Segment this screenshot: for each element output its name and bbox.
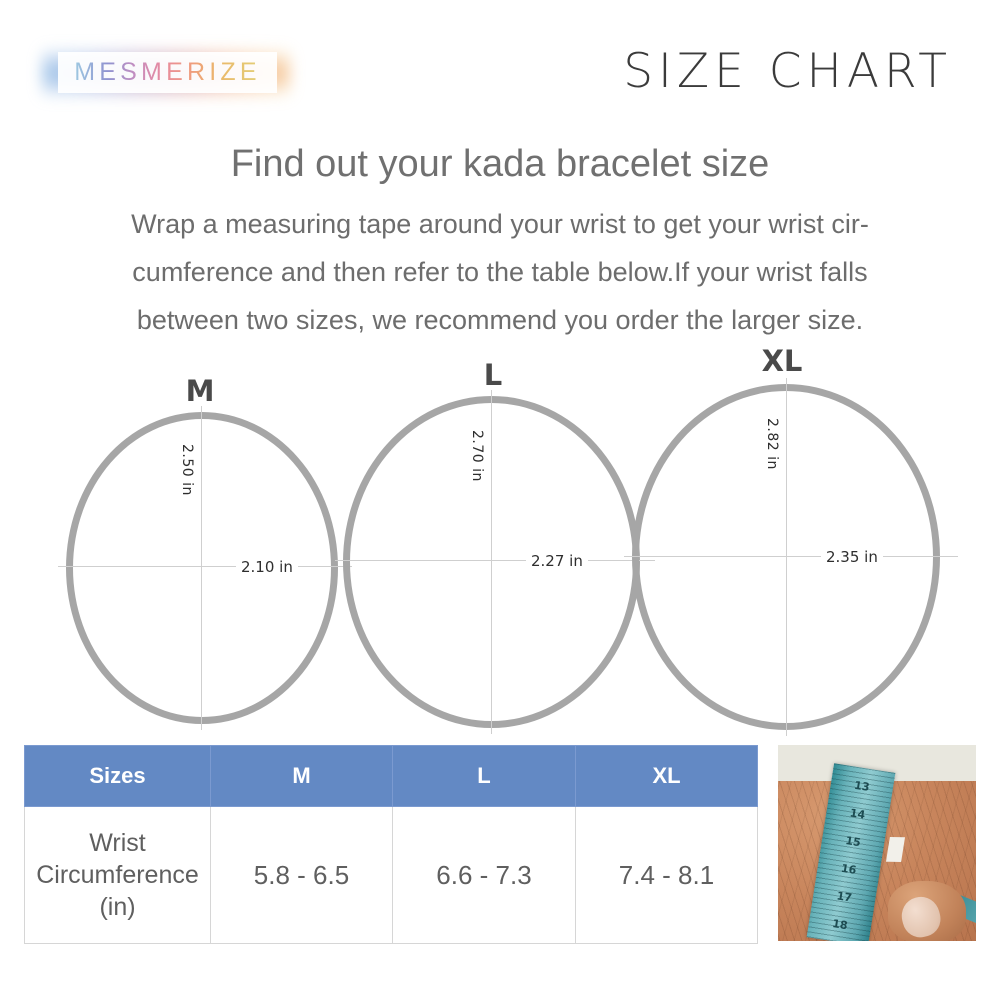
cell-wrist-circumference-m: 5.8 - 6.5 [211,807,393,944]
oval-height-label-xl: 2.82 in [764,418,780,470]
table-header-l: L [393,746,576,807]
oval-width-label-l: 2.27 in [526,552,588,570]
oval-height-label-l: 2.70 in [469,430,485,482]
oval-axis-horizontal-l [335,560,655,561]
oval-axis-vertical-l [491,390,492,734]
oval-axis-horizontal-m [58,566,352,567]
oval-axis-vertical-m [201,406,202,730]
oval-diagram-group: M 2.50 in 2.10 in L 2.70 in 2.27 in XL 2… [0,350,1000,740]
cell-wrist-circumference-xl: 7.4 - 8.1 [576,807,758,944]
oval-group-m: M 2.50 in 2.10 in [40,350,370,740]
intro-heading: Find out your kada bracelet size [0,143,1000,186]
wrist-measurement-photo: 13 14 15 16 17 18 [778,745,976,941]
table-header-row: Sizes M L XL [25,746,758,807]
oval-axis-vertical-xl [786,378,787,736]
table-header-xl: XL [576,746,758,807]
oval-group-xl: XL 2.82 in 2.35 in [620,350,965,740]
page-title: SIZE CHART [623,44,952,99]
table-header-sizes: Sizes [25,746,211,807]
oval-axis-horizontal-xl [624,556,958,557]
cell-wrist-circumference-l: 6.6 - 7.3 [393,807,576,944]
table-header-m: M [211,746,393,807]
oval-width-label-xl: 2.35 in [821,548,883,566]
oval-label-xl: XL [617,344,947,378]
intro-paragraph: Wrap a measuring tape around your wrist … [48,200,952,344]
size-table: Sizes M L XL Wrist Circumference (in) 5.… [24,745,758,944]
brand-logo: MESMERIZE [42,42,290,104]
row-label-wrist-circumference: Wrist Circumference (in) [25,807,211,944]
table-row: Wrist Circumference (in) 5.8 - 6.5 6.6 -… [25,807,758,944]
oval-label-l: L [328,358,658,392]
logo-plate: MESMERIZE [58,52,277,93]
oval-height-label-m: 2.50 in [179,444,195,496]
brand-wordmark: MESMERIZE [74,58,260,87]
oval-group-l: L 2.70 in 2.27 in [330,350,660,740]
oval-width-label-m: 2.10 in [236,558,298,576]
oval-label-m: M [35,374,365,408]
